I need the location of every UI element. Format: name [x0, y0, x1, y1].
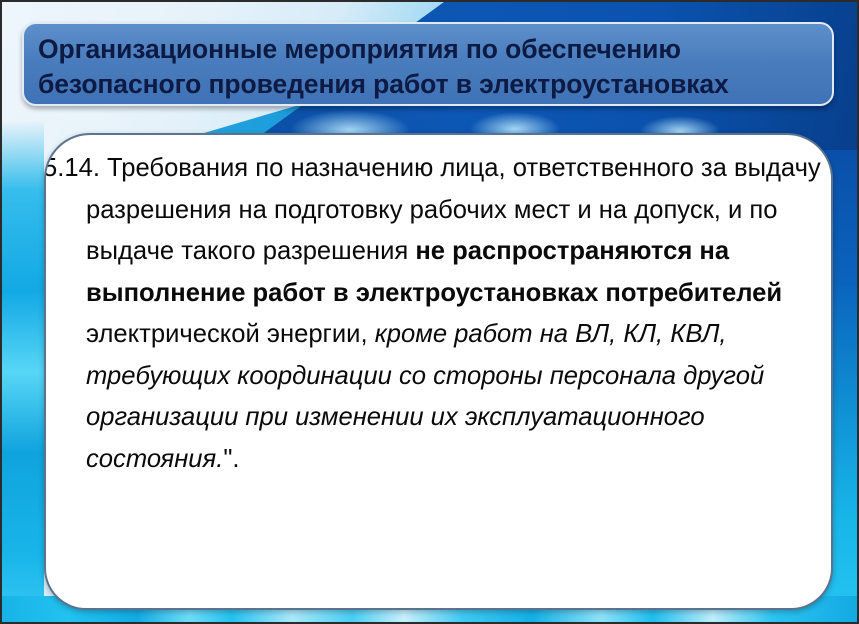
- slide-content-card: 5.14. Требования по назначению лица, отв…: [44, 133, 833, 610]
- slide-body-text: 5.14. Требования по назначению лица, отв…: [44, 148, 830, 480]
- slide-title-banner: Организационные мероприятия по обеспечен…: [22, 22, 834, 106]
- slide-title-text: Организационные мероприятия по обеспечен…: [38, 32, 729, 101]
- body-segment-regular-2: электрической энергии,: [86, 320, 375, 348]
- presentation-slide: Организационные мероприятия по обеспечен…: [0, 0, 859, 624]
- body-segment-closing-quote: ".: [223, 445, 239, 473]
- background-left-cyan-rail: [0, 120, 44, 624]
